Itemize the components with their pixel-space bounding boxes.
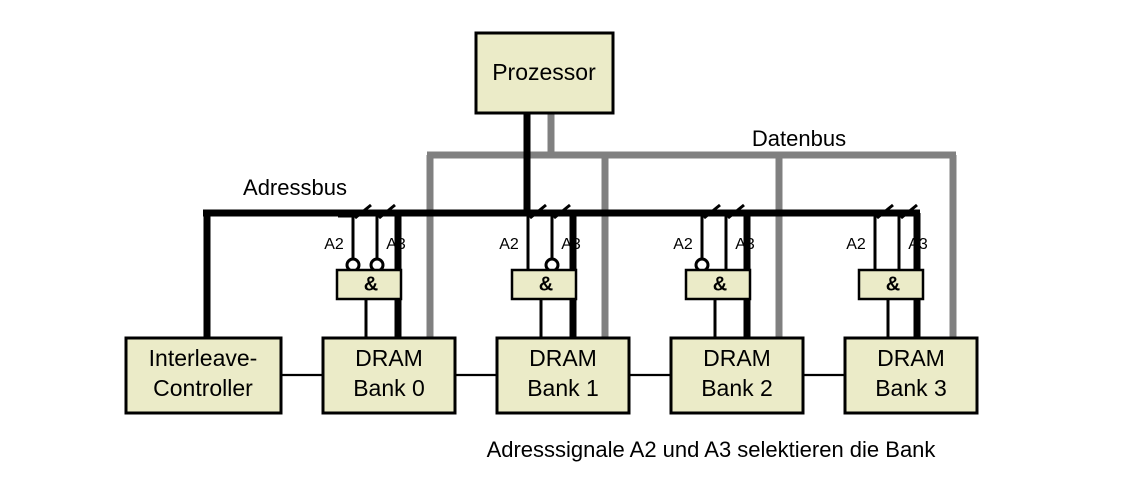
dram-bank-node-2[interactable]: DRAM Bank 2: [671, 338, 803, 413]
and-gate-symbol-bank3: &: [886, 273, 900, 295]
signal-label-a2-bank0: A2: [324, 236, 344, 253]
dram-bank-node-3[interactable]: DRAM Bank 3: [845, 338, 977, 413]
dram-bank-label-2-line1: DRAM: [703, 345, 771, 371]
address-bus-label: Adressbus: [243, 175, 347, 200]
diagram-caption: Adresssignale A2 und A3 selektieren die …: [487, 437, 937, 462]
dram-bank-label-3-line1: DRAM: [877, 345, 945, 371]
dram-bank-node-1[interactable]: DRAM Bank 1: [497, 338, 629, 413]
signal-label-a2-bank1: A2: [499, 236, 519, 253]
signal-label-a3-bank1: A3: [561, 236, 581, 253]
signal-label-a3-bank3: A3: [908, 236, 928, 253]
data-bus-group: [427, 112, 956, 338]
signal-label-a3-bank2: A3: [735, 236, 755, 253]
and-gate-symbol-bank2: &: [713, 273, 727, 295]
interleave-controller-node[interactable]: Interleave- Controller: [126, 338, 281, 413]
signal-label-a2-bank2: A2: [673, 236, 693, 253]
processor-node[interactable]: Prozessor: [476, 33, 613, 113]
bank-select-logic-2: A2 A3 &: [673, 205, 755, 340]
diagram-canvas: Prozessor Adressbus Datenbus A2 A3 & A2 …: [0, 0, 1146, 500]
dram-bank-label-3-line2: Bank 3: [875, 375, 947, 401]
dram-bank-label-2-line2: Bank 2: [701, 375, 773, 401]
dram-bank-label-0-line1: DRAM: [355, 345, 423, 371]
bank-select-logic-0: A2 A3 &: [324, 205, 406, 340]
and-gate-symbol-bank1: &: [539, 273, 553, 295]
dram-bank-node-0[interactable]: DRAM Bank 0: [323, 338, 455, 413]
signal-label-a2-bank3: A2: [846, 236, 866, 253]
dram-bank-label-1-line1: DRAM: [529, 345, 597, 371]
interleaving-diagram: Prozessor Adressbus Datenbus A2 A3 & A2 …: [0, 0, 1146, 500]
data-bus-label: Datenbus: [752, 126, 846, 151]
interleave-controller-label-line2: Controller: [153, 375, 253, 401]
dram-bank-label-0-line2: Bank 0: [353, 375, 425, 401]
processor-label: Prozessor: [492, 59, 596, 85]
signal-label-a3-bank0: A3: [386, 236, 406, 253]
dram-bank-label-1-line2: Bank 1: [527, 375, 599, 401]
interleave-controller-label-line1: Interleave-: [149, 345, 258, 371]
bank-select-logic-1: A2 A3 &: [499, 205, 581, 340]
and-gate-symbol-bank0: &: [364, 273, 378, 295]
